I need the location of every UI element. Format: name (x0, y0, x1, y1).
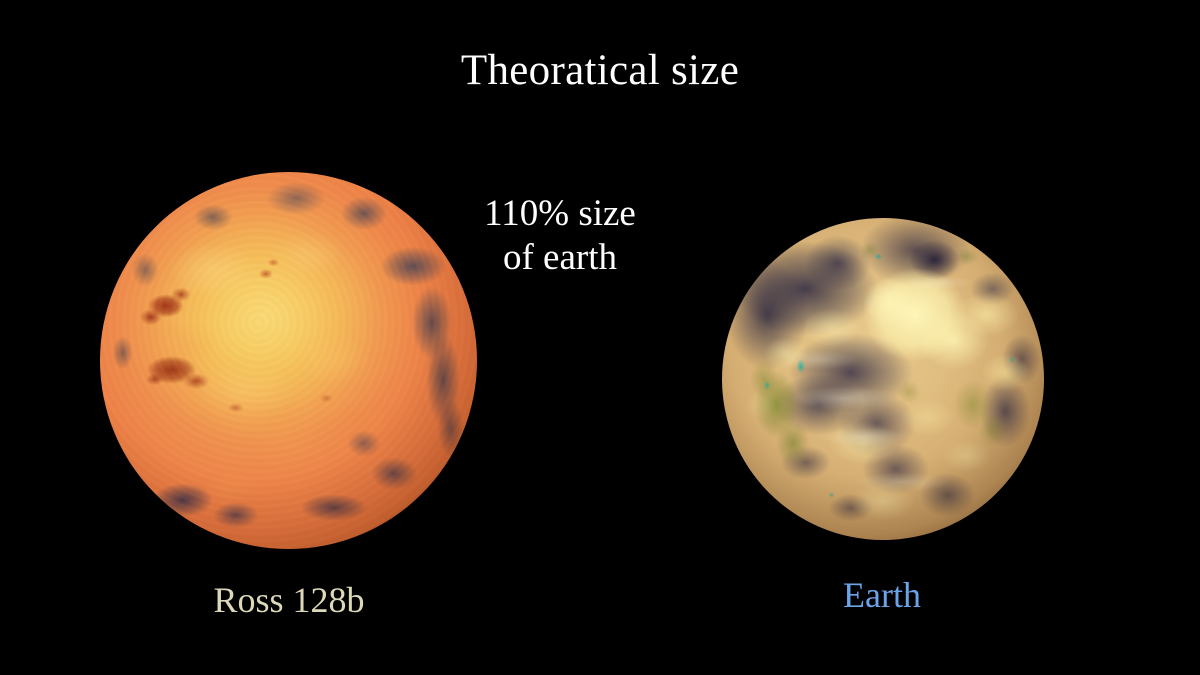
page-title: Theoratical size (0, 46, 1200, 96)
planet-earth-limb-shading (722, 218, 1044, 540)
planet-earth (722, 218, 1044, 540)
planet-ross-limb-shading (100, 172, 477, 549)
planet-label-ross-128b: Ross 128b (129, 578, 449, 622)
planet-label-earth: Earth (762, 573, 1002, 617)
size-ratio-line-1: 110% size (484, 193, 636, 234)
planet-ross-128b (100, 172, 477, 549)
slide-canvas: Theoratical size 110% size of earth Ross… (0, 0, 1200, 675)
